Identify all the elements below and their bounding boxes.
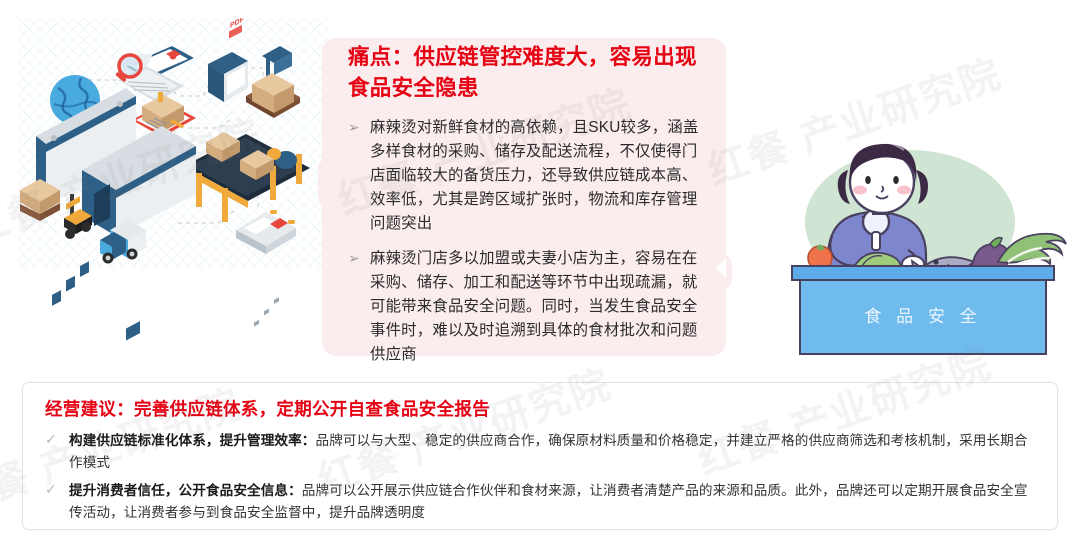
- supply-chain-illustration: PDF: [18, 18, 328, 348]
- pain-point-panel: 痛点：供应链管控难度大，容易出现食品安全隐患 ➢ 麻辣烫对新鲜食材的高依赖，且S…: [318, 24, 732, 356]
- pain-point-bullet-text: 麻辣烫门店多以加盟或夫妻小店为主，容易在在采购、储存、加工和配送等环节中出现疏漏…: [370, 247, 712, 367]
- arrow-bullet-icon: ➢: [348, 116, 370, 140]
- slide-root: PDF: [0, 0, 1080, 545]
- food-safety-illustration: 食 品 安 全: [770, 130, 1070, 365]
- advice-item: ✓ 提升消费者信任，公开食品安全信息：品牌可以公开展示供应链合作伙伴和食材来源，…: [45, 480, 1035, 523]
- pain-point-content: 痛点：供应链管控难度大，容易出现食品安全隐患 ➢ 麻辣烫对新鲜食材的高依赖，且S…: [348, 42, 712, 346]
- advice-title: 经营建议：完善供应链体系，定期公开自查食品安全报告: [45, 396, 1035, 421]
- advice-item: ✓ 构建供应链标准化体系，提升管理效率：品牌可以与大型、稳定的供应商合作，确保原…: [45, 430, 1035, 473]
- pain-point-bullet-list: ➢ 麻辣烫对新鲜食材的高依赖，且SKU较多，涵盖多样食材的采购、储存及配送流程，…: [348, 116, 712, 367]
- counter-label: 食 品 安 全: [864, 307, 981, 326]
- calculator-icon: [236, 210, 296, 327]
- pain-point-bullet: ➢ 麻辣烫门店多以加盟或夫妻小店为主，容易在在采购、储存、加工和配送等环节中出现…: [348, 247, 712, 367]
- check-icon: ✓: [45, 430, 69, 451]
- arrow-bullet-icon: ➢: [348, 247, 370, 271]
- advice-item-lead: 提升消费者信任，公开食品安全信息：: [69, 483, 302, 498]
- advice-box: 经营建议：完善供应链体系，定期公开自查食品安全报告 ✓ 构建供应链标准化体系，提…: [22, 382, 1058, 530]
- check-icon: ✓: [45, 480, 69, 501]
- pain-point-bullet-text: 麻辣烫对新鲜食材的高依赖，且SKU较多，涵盖多样食材的采购、储存及配送流程，不仅…: [370, 116, 712, 236]
- advice-item-lead: 构建供应链标准化体系，提升管理效率：: [69, 433, 316, 448]
- advice-item-text: 构建供应链标准化体系，提升管理效率：品牌可以与大型、稳定的供应商合作，确保原材料…: [69, 430, 1035, 473]
- pain-point-bullet: ➢ 麻辣烫对新鲜食材的高依赖，且SKU较多，涵盖多样食材的采购、储存及配送流程，…: [348, 116, 712, 236]
- pain-point-title: 痛点：供应链管控难度大，容易出现食品安全隐患: [348, 42, 708, 103]
- advice-item-text: 提升消费者信任，公开食品安全信息：品牌可以公开展示供应链合作伙伴和食材来源，让消…: [69, 480, 1035, 523]
